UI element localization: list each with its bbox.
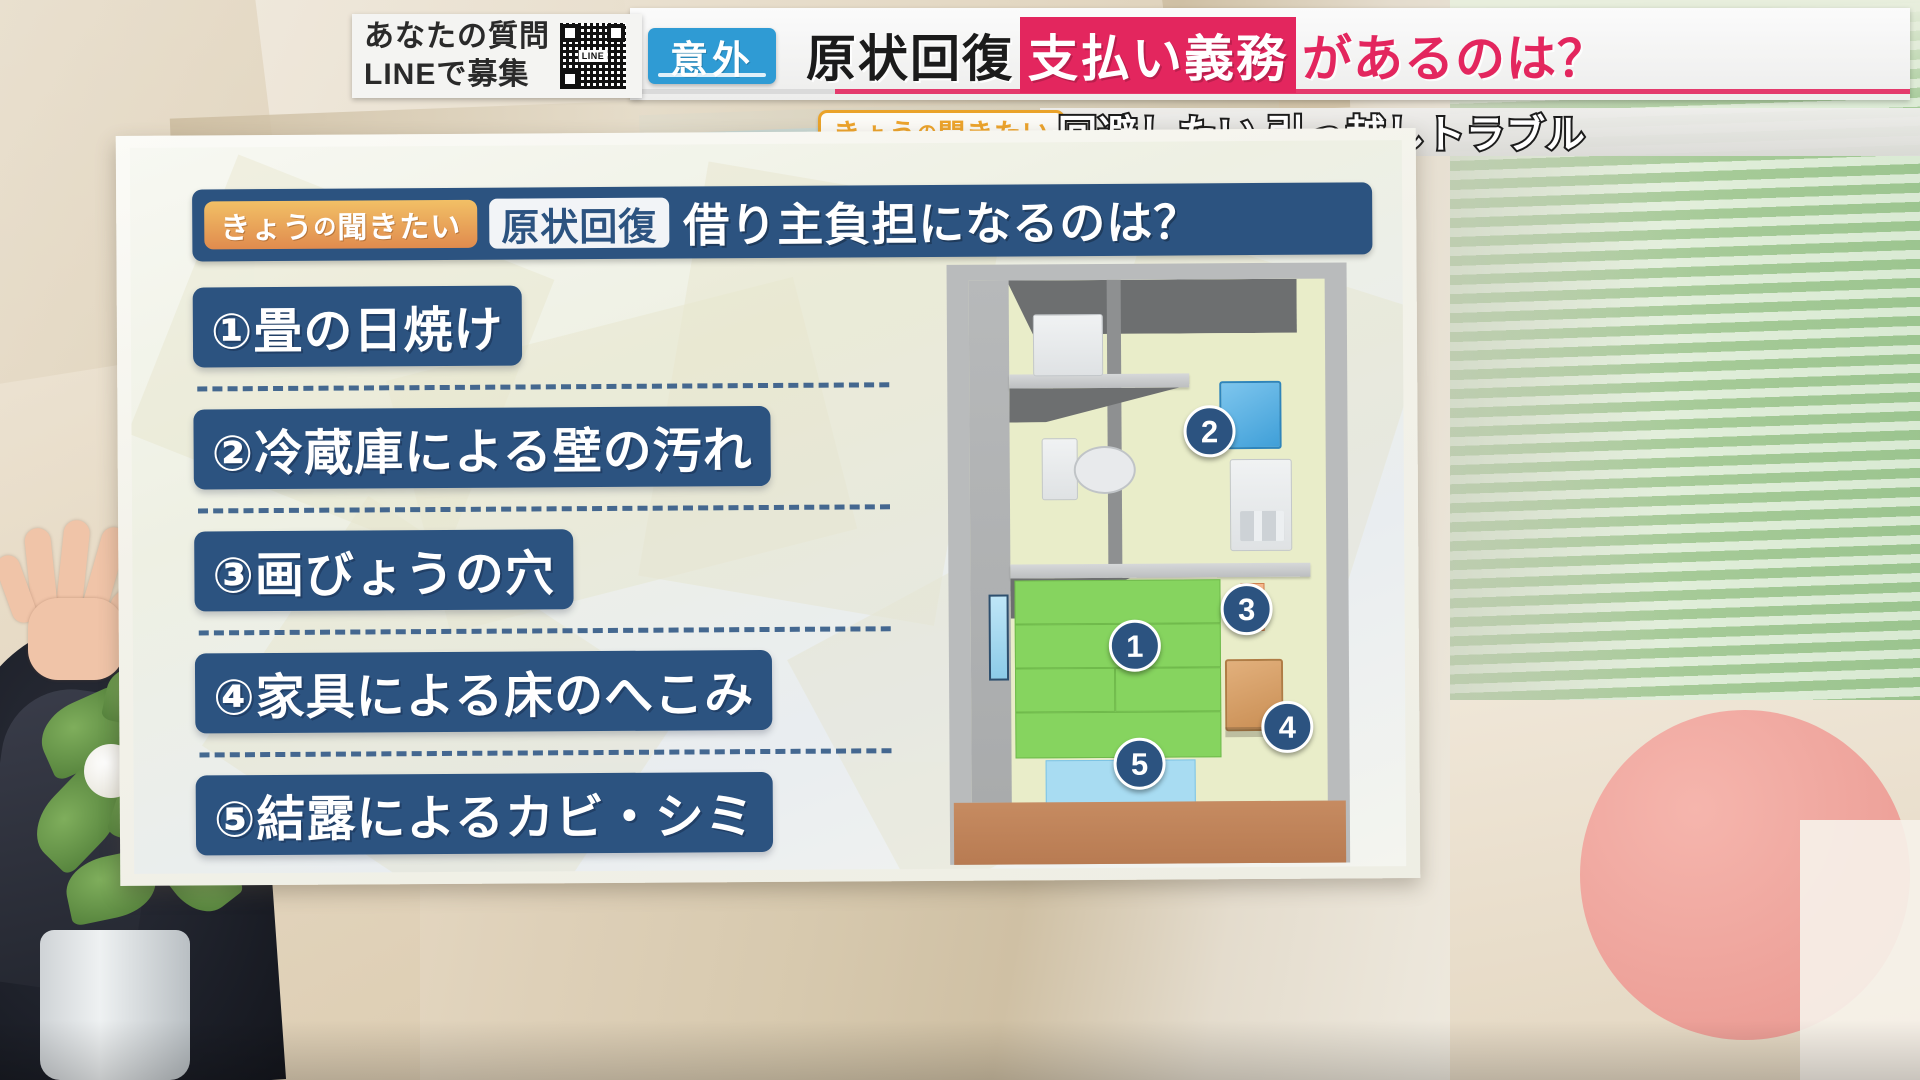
burden-list: ①畳の日焼け ②冷蔵庫による壁の汚れ ③画びょうの穴 ④家具による床のへこみ ⑤… [193,283,896,855]
board-surface: きょう の 聞きたい 原状回復 借り主負担になるのは？ ①畳の日焼け ②冷蔵庫に… [130,140,1406,874]
list-item-3: ③画びょうの穴 [194,529,573,611]
line-panel-line1: あなたの質問 [364,18,550,56]
qr-code-label: LINE [579,50,608,62]
headline-question: があるのは？ [1302,19,1608,91]
board-badge-particle: の [313,208,337,242]
list-item-2: ②冷蔵庫による壁の汚れ [193,406,771,490]
list-separator-1 [197,382,889,391]
badge-igai: 意外 [648,28,776,84]
broadcast-screen: あなたの質問 LINEで募集 LINE 意外 原状回復 支払い義務 があるのは？… [0,0,1920,1080]
board-heading: 借り主負担になるのは？ [683,186,1200,255]
room-marker-1: 1 [1109,620,1161,672]
room-marker-3: 3 [1220,583,1272,635]
room-marker-1-label: 1 [1126,630,1143,661]
room-toilet-tank [1042,438,1078,500]
room-marker-5-label: 5 [1131,748,1148,779]
studio-vase [40,930,190,1080]
room-shelf-mid [1010,563,1310,579]
room-marker-4-label: 4 [1279,711,1296,742]
room-marker-4: 4 [1261,701,1313,753]
list-item-3-label: ③画びょうの穴 [212,534,555,607]
list-item-2-label: ②冷蔵庫による壁の汚れ [211,411,752,485]
room-partition-vertical [1107,280,1123,580]
room-marker-2-label: 2 [1201,416,1218,447]
board-topic-tag: 原状回復 [489,198,669,249]
list-separator-2 [198,504,890,513]
line-panel-text: あなたの質問 LINEで募集 [364,18,550,95]
room-tatami-d [1115,667,1221,712]
qr-code-icon: LINE [560,23,626,89]
board-badge-tail: 聞きたい [337,202,461,247]
room-window-left [989,595,1010,681]
line-qr-panel: あなたの質問 LINEで募集 LINE [352,14,642,98]
room-marker-3-label: 3 [1238,594,1255,625]
studio-right-white-panel [1800,820,1920,1080]
headline-highlight: 支払い義務 [1020,17,1296,93]
presentation-board: きょう の 聞きたい 原状回復 借り主負担になるのは？ ①畳の日焼け ②冷蔵庫に… [116,128,1421,886]
list-separator-4 [199,748,891,757]
headline-subject: 原状回復 [806,19,1014,91]
line-panel-line2: LINEで募集 [364,56,550,94]
broadcast-top-overlay: あなたの質問 LINEで募集 LINE 意外 原状回復 支払い義務 があるのは？… [0,0,1920,104]
list-item-5-label: ⑤結露によるカビ・シミ [214,777,755,851]
badge-igai-label: 意外 [670,29,754,84]
room-washing-machine [1033,314,1103,376]
room-diagram: 2 3 1 4 5 [947,262,1351,864]
room-marker-5: 5 [1113,738,1165,790]
room-toilet-bowl [1074,446,1136,494]
room-left-wall [969,281,1012,803]
room-floor-base [954,800,1346,864]
list-item-1-label: ①畳の日焼け [211,290,504,363]
list-item-4-label: ④家具による床のへこみ [213,655,754,729]
board-badge-kyou-no-kikitai: きょう の 聞きたい [204,200,477,250]
board-title-bar: きょう の 聞きたい 原状回復 借り主負担になるのは？ [192,182,1372,261]
list-item-1: ①畳の日焼け [193,286,522,368]
room-tatami-c [1015,668,1115,713]
list-item-4: ④家具による床のへこみ [195,650,773,734]
board-badge-main: きょう [220,203,313,248]
room-tatami-a [1014,579,1220,624]
headline: 原状回復 支払い義務 があるのは？ [806,24,1608,86]
room-marker-2: 2 [1183,405,1235,457]
list-item-5: ⑤結露によるカビ・シミ [196,772,774,856]
room-stove-burners [1240,511,1284,541]
list-separator-3 [199,626,891,635]
board-topic-tag-label: 原状回復 [501,195,657,251]
